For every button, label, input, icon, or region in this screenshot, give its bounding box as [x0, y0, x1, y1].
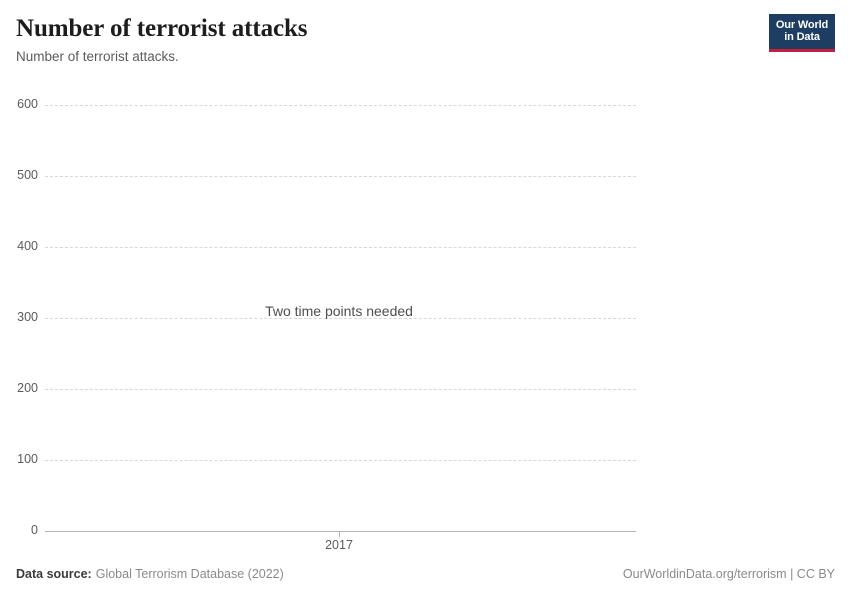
x-tick-label-2017: 2017 [325, 538, 353, 552]
data-source-value: Global Terrorism Database (2022) [96, 567, 284, 581]
data-source-label: Data source: [16, 567, 92, 581]
gridline-600 [45, 105, 636, 106]
chart-footer: Data source:Global Terrorism Database (2… [16, 566, 835, 586]
plot-area: 600 500 400 300 200 100 0 2017 Two time … [0, 0, 850, 600]
y-tick-label-600: 600 [17, 98, 38, 111]
gridline-500 [45, 176, 636, 177]
y-tick-label-100: 100 [17, 453, 38, 466]
y-tick-label-300: 300 [17, 311, 38, 324]
chart-root: Number of terrorist attacks Number of te… [0, 0, 850, 600]
chart-placeholder-message: Two time points needed [265, 303, 413, 320]
x-tick-mark-2017 [339, 531, 340, 537]
y-tick-label-500: 500 [17, 169, 38, 182]
y-tick-label-0: 0 [31, 524, 38, 537]
gridline-100 [45, 460, 636, 461]
attribution-link[interactable]: OurWorldinData.org/terrorism | CC BY [623, 566, 835, 582]
y-tick-label-200: 200 [17, 382, 38, 395]
gridline-200 [45, 389, 636, 390]
data-source: Data source:Global Terrorism Database (2… [16, 566, 284, 582]
x-axis-line [45, 531, 636, 532]
y-tick-label-400: 400 [17, 240, 38, 253]
gridline-400 [45, 247, 636, 248]
